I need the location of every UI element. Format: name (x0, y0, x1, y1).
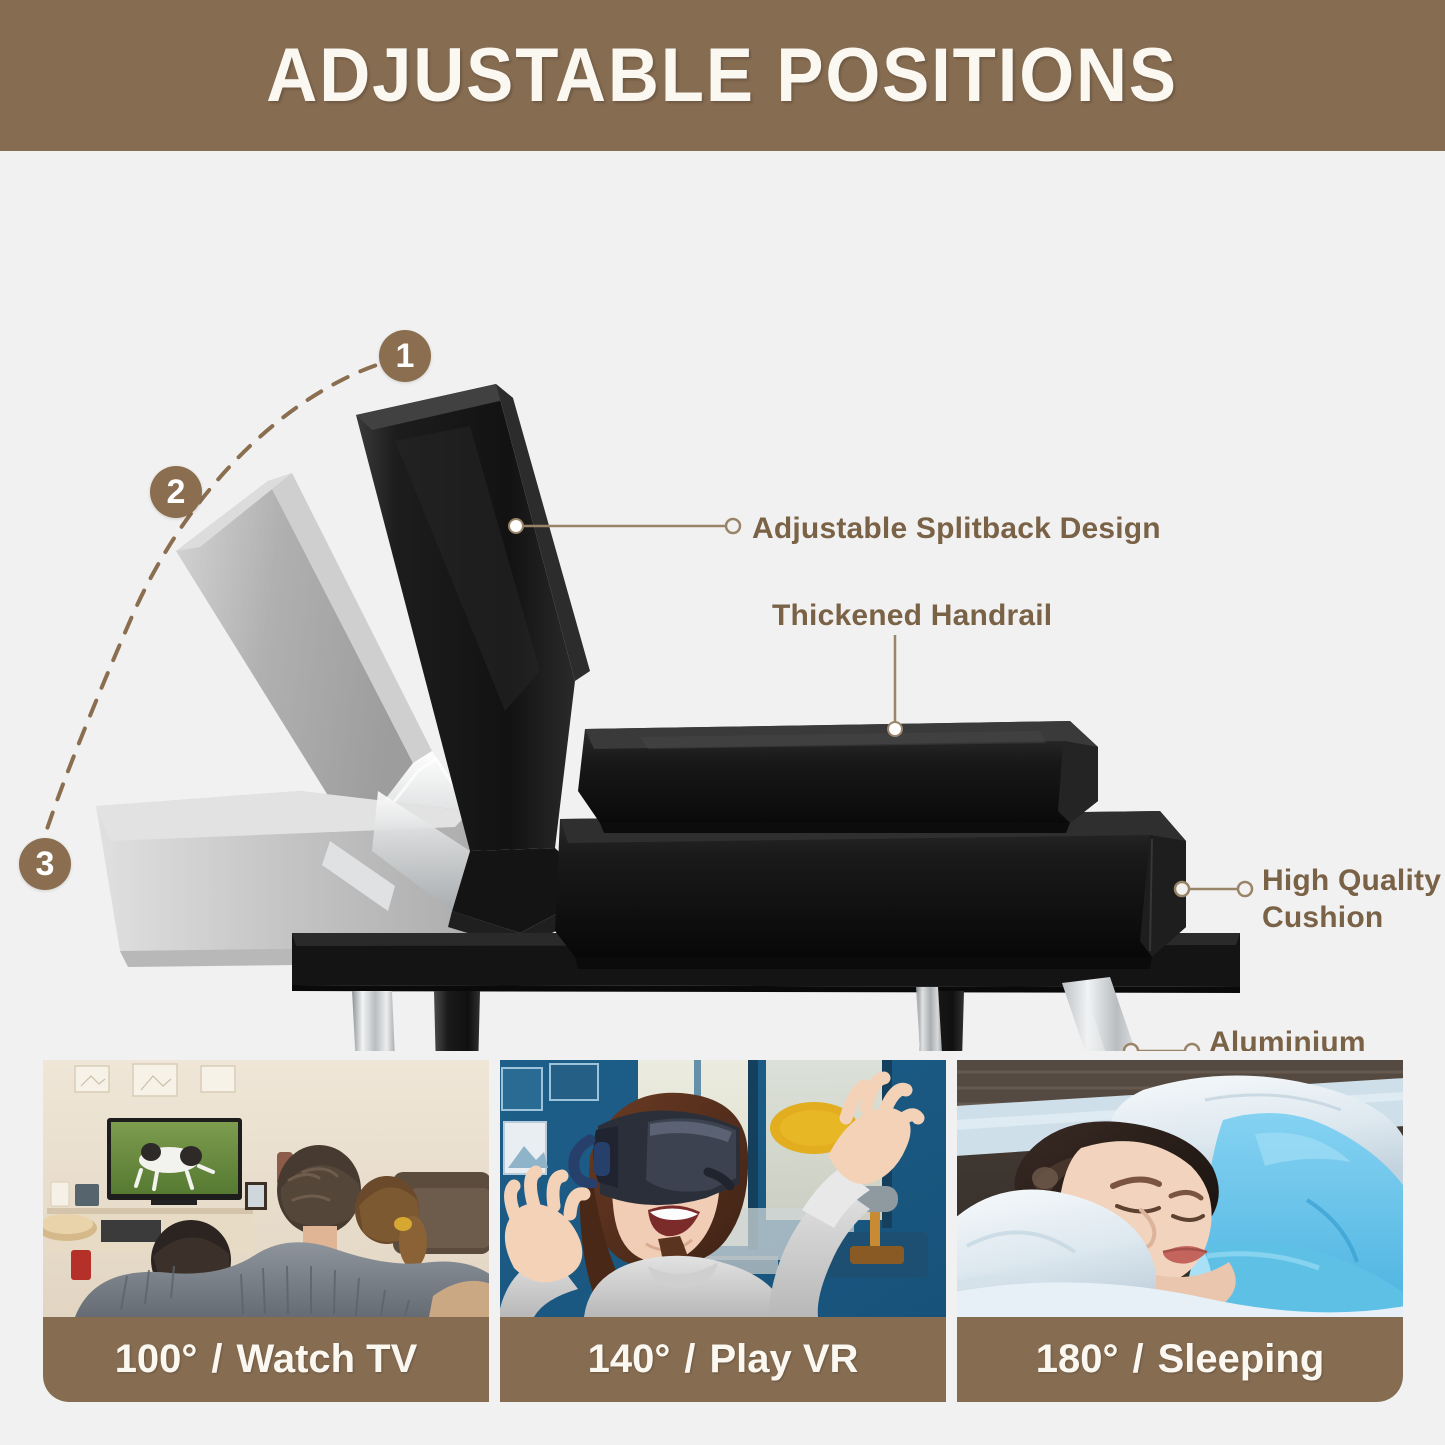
callout-label-legs: Aluminium Alloy Legs (1209, 1025, 1366, 1051)
caption-separator-sleeping: / (1132, 1337, 1143, 1382)
leader-anchor-dot-splitback (509, 519, 523, 533)
thickened-handrail (578, 721, 1098, 833)
header-banner: ADJUSTABLE POSITIONS (0, 0, 1445, 151)
product-illustration (0, 151, 1445, 1051)
caption-activity-watch-tv: Watch TV (237, 1337, 418, 1382)
callout-label-splitback: Adjustable Splitback Design (752, 511, 1161, 548)
step-badge-2[interactable]: 2 (150, 466, 202, 518)
leader-end-circle-splitback (726, 519, 740, 533)
callout-label-handrail: Thickened Handrail (772, 598, 1052, 635)
photo-woman-sleeping-pillow (957, 1060, 1403, 1317)
photo-caption-sleeping: 180° / Sleeping (957, 1317, 1403, 1402)
caption-separator-play-vr: / (684, 1337, 695, 1382)
usage-photo-strip: 100° / Watch TV (43, 1060, 1403, 1402)
caption-separator-watch-tv: / (211, 1337, 222, 1382)
photo-card-play-vr[interactable]: 140° / Play VR (500, 1060, 946, 1402)
photo-card-watch-tv[interactable]: 100° / Watch TV (43, 1060, 489, 1402)
caption-angle-watch-tv: 100° (115, 1337, 198, 1382)
leader-anchor-circle-cushion (1175, 882, 1189, 896)
photo-caption-watch-tv: 100° / Watch TV (43, 1317, 489, 1402)
product-diagram-stage: 1 2 3 Adjustable Splitback Design Thicke… (0, 151, 1445, 1051)
caption-activity-sleeping: Sleeping (1158, 1337, 1325, 1382)
photo-family-watching-tv (43, 1060, 489, 1317)
caption-angle-sleeping: 180° (1036, 1337, 1119, 1382)
photo-caption-play-vr: 140° / Play VR (500, 1317, 946, 1402)
caption-angle-play-vr: 140° (588, 1337, 671, 1382)
photo-woman-vr-headset (500, 1060, 946, 1317)
leader-anchor-circle-legs (1124, 1044, 1138, 1051)
leader-end-circle-legs (1185, 1044, 1199, 1051)
photo-card-sleeping[interactable]: 180° / Sleeping (957, 1060, 1403, 1402)
leader-anchor-dot-handrail (888, 722, 902, 736)
step-badge-3[interactable]: 3 (19, 838, 71, 890)
callout-label-cushion: High Quality Cushion (1262, 863, 1441, 936)
leader-end-circle-cushion (1238, 882, 1252, 896)
seat-cushion (555, 811, 1186, 969)
step-badge-1[interactable]: 1 (379, 330, 431, 382)
page-title: ADJUSTABLE POSITIONS (267, 32, 1179, 119)
product-infographic: ADJUSTABLE POSITIONS (0, 0, 1445, 1445)
caption-activity-play-vr: Play VR (709, 1337, 858, 1382)
